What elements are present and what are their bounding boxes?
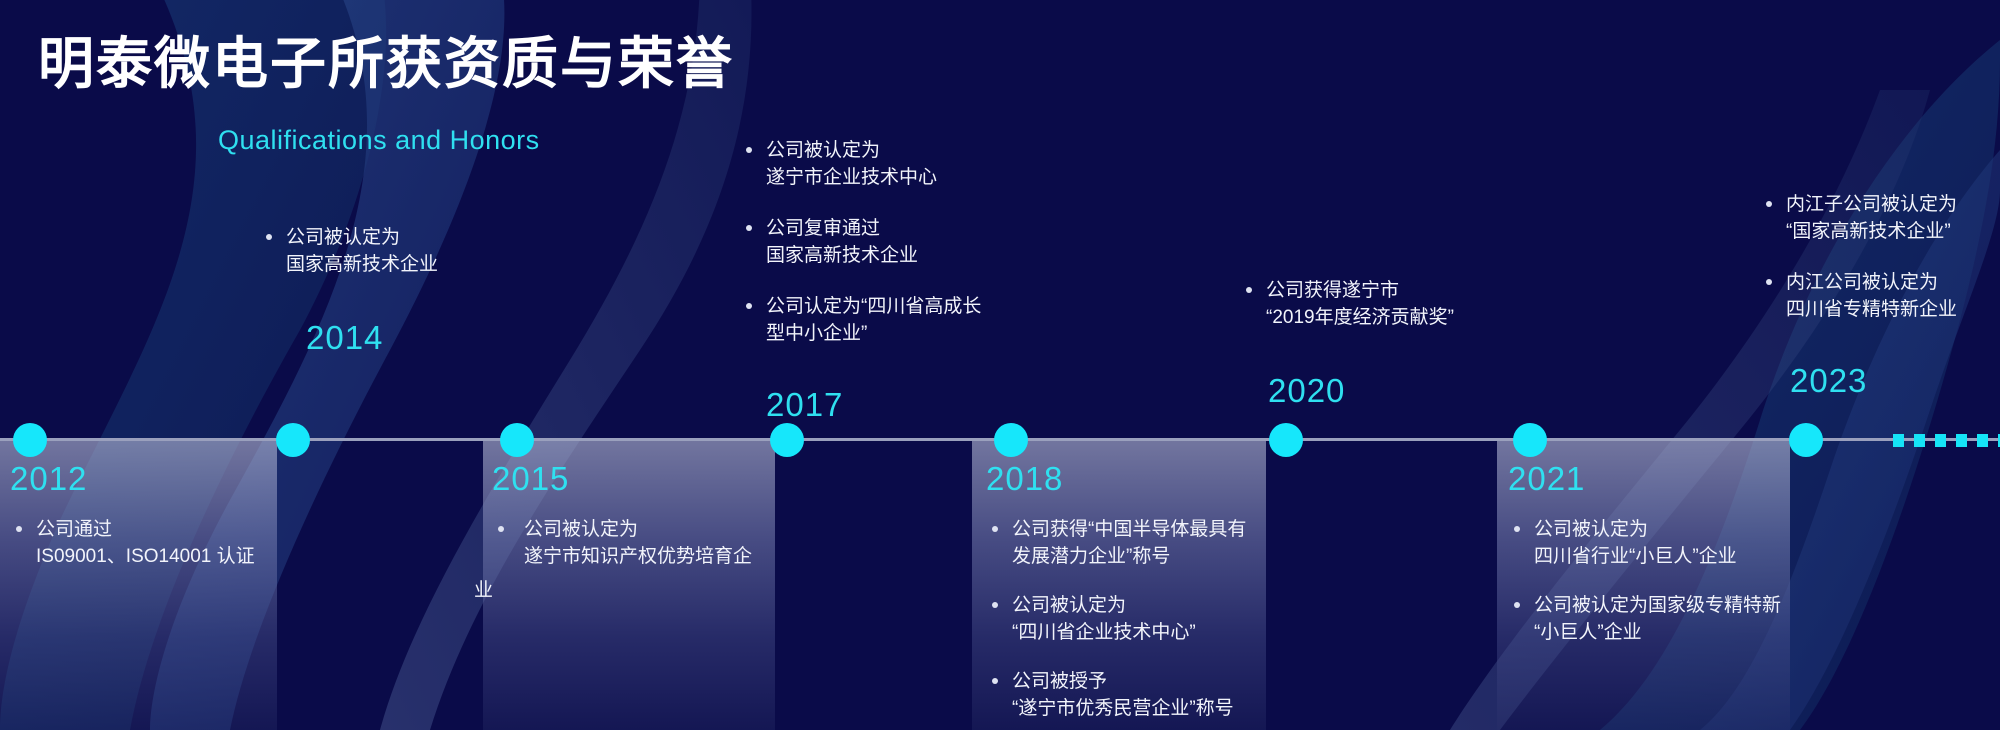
entry-year-2015: 2015	[492, 462, 782, 495]
tail-dash	[1893, 434, 1904, 447]
entry-year-2017: 2017	[766, 388, 1050, 421]
list-item: 公司认定为“四川省高成长 型中小企业”	[740, 294, 1050, 348]
list-item: 内江公司被认定为 四川省专精特新企业	[1760, 270, 2000, 324]
entry-2012[interactable]: 2012 公司通过 IS09001、ISO14001 认证	[10, 462, 300, 571]
entry-items-2020: 公司获得遂宁市 “2019年度经济贡献奖”	[1240, 278, 1550, 356]
entry-year-2023: 2023	[1790, 364, 2000, 397]
entry-items-2012: 公司通过 IS09001、ISO14001 认证	[10, 517, 300, 571]
entry-2023[interactable]: 内江子公司被认定为 “国家高新技术企业” 内江公司被认定为 四川省专精特新企业 …	[1760, 192, 2000, 397]
list-item: 公司被认定为国家级专精特新 “小巨人”企业	[1508, 593, 1818, 647]
entry-2015-overflow-char: 业	[474, 578, 493, 605]
entry-2021[interactable]: 2021 公司被认定为 四川省行业“小巨人”企业 公司被认定为国家级专精特新 “…	[1508, 462, 1818, 647]
entry-2020[interactable]: 公司获得遂宁市 “2019年度经济贡献奖” 2020	[1240, 278, 1550, 407]
slide-canvas: 明泰微电子所获资质与荣誉 Qualifications and Honors 2…	[0, 0, 2000, 730]
entry-year-2020: 2020	[1268, 374, 1550, 407]
tail-dash	[1956, 434, 1967, 447]
entry-items-2021: 公司被认定为 四川省行业“小巨人”企业 公司被认定为国家级专精特新 “小巨人”企…	[1508, 517, 1818, 647]
entry-2017[interactable]: 公司被认定为 遂宁市企业技术中心 公司复审通过 国家高新技术企业 公司认定为“四…	[740, 138, 1050, 421]
list-item: 公司被认定为 四川省行业“小巨人”企业	[1508, 517, 1818, 571]
page-subtitle: Qualifications and Honors	[218, 125, 540, 156]
page-title: 明泰微电子所获资质与荣誉	[38, 33, 734, 95]
tail-dash	[1914, 434, 1925, 447]
list-item: 公司被认定为 遂宁市知识产权优势培育企	[492, 517, 782, 571]
timeline-dot-2015[interactable]	[500, 423, 534, 457]
list-item: 公司获得遂宁市 “2019年度经济贡献奖”	[1240, 278, 1550, 332]
timeline-dot-2017[interactable]	[770, 423, 804, 457]
entry-items-2015: 公司被认定为 遂宁市知识产权优势培育企	[492, 517, 782, 571]
entry-items-2017: 公司被认定为 遂宁市企业技术中心 公司复审通过 国家高新技术企业 公司认定为“四…	[740, 138, 1050, 372]
list-item: 公司被认定为 “四川省企业技术中心”	[986, 593, 1286, 647]
entry-year-2014: 2014	[306, 321, 560, 354]
timeline-dot-2014[interactable]	[276, 423, 310, 457]
list-item: 公司被授予 “遂宁市优秀民营企业”称号	[986, 669, 1286, 723]
entry-year-2018: 2018	[986, 462, 1286, 495]
timeline-dot-2021[interactable]	[1513, 423, 1547, 457]
list-item: 公司获得“中国半导体最具有 发展潜力企业”称号	[986, 517, 1286, 571]
list-item: 公司被认定为 遂宁市企业技术中心	[740, 138, 1050, 192]
list-item: 内江子公司被认定为 “国家高新技术企业”	[1760, 192, 2000, 246]
tail-dash	[1977, 434, 1988, 447]
timeline-dot-2023[interactable]	[1789, 423, 1823, 457]
list-item: 公司通过 IS09001、ISO14001 认证	[10, 517, 300, 571]
tail-dash	[1935, 434, 1946, 447]
entry-items-2018: 公司获得“中国半导体最具有 发展潜力企业”称号 公司被认定为 “四川省企业技术中…	[986, 517, 1286, 723]
entry-year-2021: 2021	[1508, 462, 1818, 495]
timeline-dot-2018[interactable]	[994, 423, 1028, 457]
timeline-tail-dashes	[1893, 434, 2000, 447]
entry-items-2023: 内江子公司被认定为 “国家高新技术企业” 内江公司被认定为 四川省专精特新企业	[1760, 192, 2000, 348]
list-item: 公司被认定为 国家高新技术企业	[260, 225, 560, 279]
timeline-dot-2020[interactable]	[1269, 423, 1303, 457]
entry-2018[interactable]: 2018 公司获得“中国半导体最具有 发展潜力企业”称号 公司被认定为 “四川省…	[986, 462, 1286, 723]
entry-items-2014: 公司被认定为 国家高新技术企业	[260, 225, 560, 303]
list-item: 公司复审通过 国家高新技术企业	[740, 216, 1050, 270]
timeline-dot-2012[interactable]	[13, 423, 47, 457]
entry-2015[interactable]: 2015 公司被认定为 遂宁市知识产权优势培育企 业	[492, 462, 782, 571]
entry-year-2012: 2012	[10, 462, 300, 495]
entry-2014[interactable]: 公司被认定为 国家高新技术企业 2014	[260, 225, 560, 354]
